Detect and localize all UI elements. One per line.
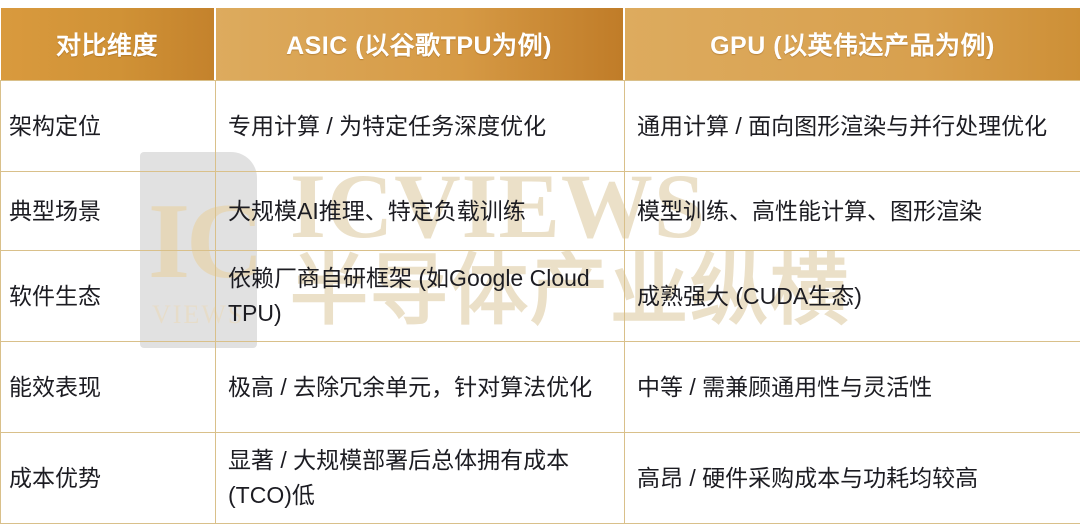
cell-asic: 专用计算 / 为特定任务深度优化	[216, 81, 625, 172]
cell-asic: 依赖厂商自研框架 (如Google Cloud TPU)	[216, 251, 625, 342]
header-cell-asic: ASIC (以谷歌TPU为例)	[216, 8, 625, 81]
header-cell-gpu: GPU (以英伟达产品为例)	[625, 8, 1080, 81]
cell-gpu: 通用计算 / 面向图形渲染与并行处理优化	[625, 81, 1080, 172]
cell-dimension: 典型场景	[1, 172, 216, 251]
header-row: 对比维度 ASIC (以谷歌TPU为例) GPU (以英伟达产品为例)	[1, 8, 1080, 81]
cell-asic: 显著 / 大规模部署后总体拥有成本(TCO)低	[216, 433, 625, 524]
cell-asic: 极高 / 去除冗余单元，针对算法优化	[216, 342, 625, 433]
header-cell-dimension: 对比维度	[1, 8, 216, 81]
table-header: 对比维度 ASIC (以谷歌TPU为例) GPU (以英伟达产品为例)	[1, 8, 1080, 81]
header-label-asic: ASIC (以谷歌TPU为例)	[216, 8, 623, 80]
header-label-gpu: GPU (以英伟达产品为例)	[625, 8, 1080, 80]
table-row: 典型场景 大规模AI推理、特定负载训练 模型训练、高性能计算、图形渲染	[1, 172, 1080, 251]
table-row: 软件生态 依赖厂商自研框架 (如Google Cloud TPU) 成熟强大 (…	[1, 251, 1080, 342]
cell-gpu: 中等 / 需兼顾通用性与灵活性	[625, 342, 1080, 433]
cell-gpu: 成熟强大 (CUDA生态)	[625, 251, 1080, 342]
table-row: 能效表现 极高 / 去除冗余单元，针对算法优化 中等 / 需兼顾通用性与灵活性	[1, 342, 1080, 433]
top-spacer	[0, 0, 1080, 8]
comparison-table-container: 对比维度 ASIC (以谷歌TPU为例) GPU (以英伟达产品为例) 架构定位…	[0, 0, 1080, 498]
cell-dimension: 架构定位	[1, 81, 216, 172]
table-row: 架构定位 专用计算 / 为特定任务深度优化 通用计算 / 面向图形渲染与并行处理…	[1, 81, 1080, 172]
cell-dimension: 能效表现	[1, 342, 216, 433]
table-body: 架构定位 专用计算 / 为特定任务深度优化 通用计算 / 面向图形渲染与并行处理…	[1, 81, 1080, 524]
cell-gpu: 高昂 / 硬件采购成本与功耗均较高	[625, 433, 1080, 524]
cell-gpu: 模型训练、高性能计算、图形渲染	[625, 172, 1080, 251]
cell-asic: 大规模AI推理、特定负载训练	[216, 172, 625, 251]
header-label-dimension: 对比维度	[1, 8, 214, 80]
comparison-table: 对比维度 ASIC (以谷歌TPU为例) GPU (以英伟达产品为例) 架构定位…	[0, 8, 1080, 524]
cell-dimension: 软件生态	[1, 251, 216, 342]
cell-dimension: 成本优势	[1, 433, 216, 524]
table-row: 成本优势 显著 / 大规模部署后总体拥有成本(TCO)低 高昂 / 硬件采购成本…	[1, 433, 1080, 524]
